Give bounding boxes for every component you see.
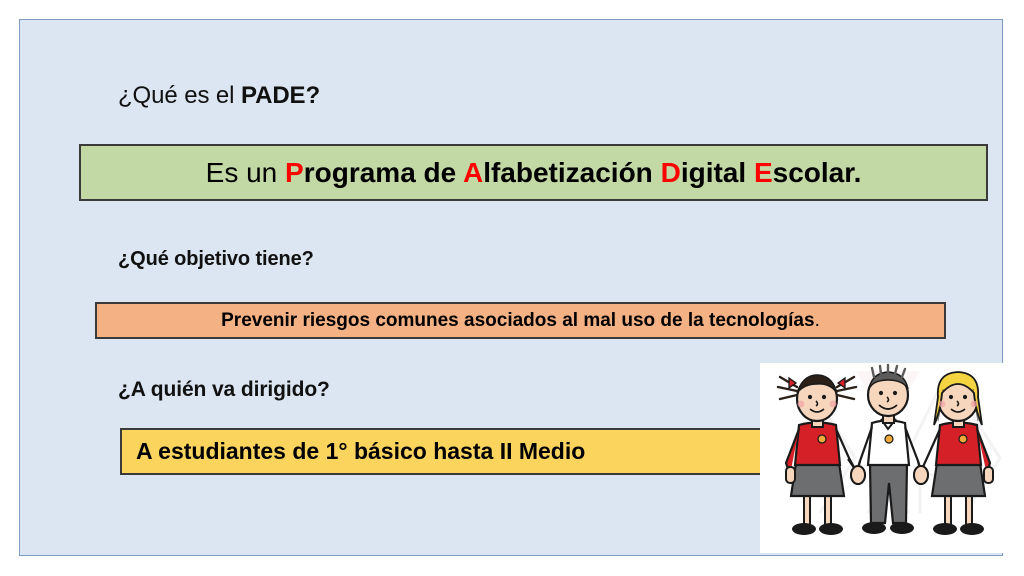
orange-period: . xyxy=(815,310,820,331)
slide-canvas: ¿Qué es el PADE? Es un Programa de Alfab… xyxy=(0,0,1024,576)
green-initial-a: A xyxy=(463,157,483,188)
schoolchildren-illustration xyxy=(760,363,1017,553)
question-what-objective: ¿Qué objetivo tiene? xyxy=(118,248,314,271)
orange-banner-text: Prevenir riesgos comunes asociados al ma… xyxy=(221,310,820,332)
green-initial-p: P xyxy=(285,157,304,188)
question-1-prefix: ¿Qué es el xyxy=(118,82,241,109)
green-initial-d: D xyxy=(661,157,681,188)
green-initial-e: E xyxy=(754,157,773,188)
green-word-escolar: scolar. xyxy=(773,157,862,188)
question-1-strong: PADE? xyxy=(241,82,320,109)
answer-banner-orange: Prevenir riesgos comunes asociados al ma… xyxy=(95,302,946,339)
green-space-1 xyxy=(653,157,661,188)
green-word-digital: igital xyxy=(681,157,746,188)
orange-main-text: Prevenir riesgos comunes asociados al ma… xyxy=(221,310,814,331)
question-who-targeted: ¿A quién va dirigido? xyxy=(118,378,330,402)
green-word-alfabetizacion: lfabetización xyxy=(483,157,653,188)
slide: ¿Qué es el PADE? Es un Programa de Alfab… xyxy=(19,19,1003,556)
green-banner-text: Es un Programa de Alfabetización Digital… xyxy=(206,157,862,189)
answer-banner-yellow: A estudiantes de 1° básico hasta II Medi… xyxy=(120,428,783,475)
green-connector-de: de xyxy=(416,157,463,188)
answer-banner-green: Es un Programa de Alfabetización Digital… xyxy=(79,144,988,201)
yellow-banner-text: A estudiantes de 1° básico hasta II Medi… xyxy=(136,438,585,465)
green-space-2 xyxy=(746,157,754,188)
question-what-is-pade: ¿Qué es el PADE? xyxy=(118,82,320,110)
green-word-programa: rograma xyxy=(304,157,416,188)
three-children-drawing xyxy=(760,363,1017,553)
green-lead: Es un xyxy=(206,157,285,188)
